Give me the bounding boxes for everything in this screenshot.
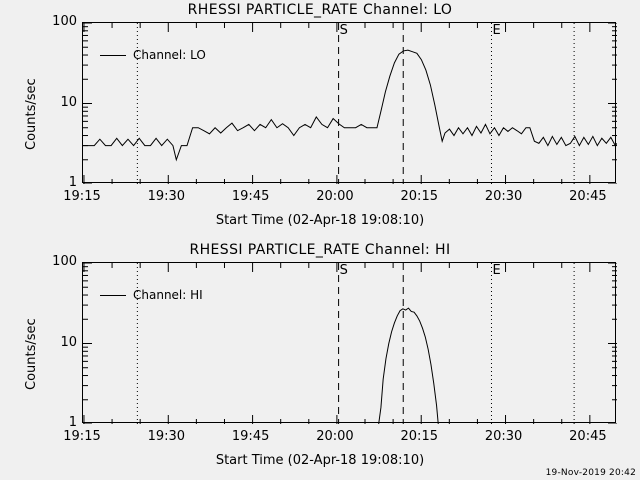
- legend-label-lo: Channel: LO: [133, 48, 206, 62]
- y-tick-label: 1: [37, 415, 77, 430]
- chart-title-lo: RHESSI PARTICLE_RATE Channel: LO: [0, 2, 640, 18]
- x-tick-label: 20:15: [401, 429, 438, 444]
- x-tick-label: 20:30: [485, 429, 522, 444]
- legend-line-swatch-lo: [100, 55, 126, 56]
- marker-label-e: E: [492, 23, 500, 38]
- y-tick-label: 10: [37, 335, 77, 350]
- x-tick-label: 19:15: [63, 429, 100, 444]
- chart-panel-hi: RHESSI PARTICLE_RATE Channel: HI Counts/…: [0, 240, 640, 480]
- x-tick-label: 19:45: [232, 189, 269, 204]
- chart-panel-lo: RHESSI PARTICLE_RATE Channel: LO Counts/…: [0, 0, 640, 240]
- x-tick-label: 20:45: [569, 189, 606, 204]
- x-tick-label: 20:00: [316, 429, 353, 444]
- x-tick-label: 19:30: [148, 429, 185, 444]
- marker-label-s: S: [340, 263, 348, 278]
- x-tick-label: 20:30: [485, 189, 522, 204]
- chart-title-hi: RHESSI PARTICLE_RATE Channel: HI: [0, 242, 640, 258]
- plot-area-hi: [82, 262, 616, 423]
- x-tick-label: 20:00: [316, 189, 353, 204]
- marker-label-s: S: [340, 23, 348, 38]
- marker-label-e: E: [492, 263, 500, 278]
- y-tick-label: 100: [37, 254, 77, 269]
- x-tick-label: 19:30: [148, 189, 185, 204]
- x-tick-label: 20:45: [569, 429, 606, 444]
- legend-label-hi: Channel: HI: [133, 288, 203, 302]
- x-axis-label-hi: Start Time (02-Apr-18 19:08:10): [0, 453, 640, 468]
- y-tick-label: 1: [37, 175, 77, 190]
- x-tick-label: 19:15: [63, 189, 100, 204]
- y-tick-label: 100: [37, 14, 77, 29]
- x-axis-label-lo: Start Time (02-Apr-18 19:08:10): [0, 213, 640, 228]
- legend-hi: Channel: HI: [100, 288, 203, 302]
- legend-lo: Channel: LO: [100, 48, 206, 62]
- y-axis-label-hi: Counts/sec: [24, 318, 39, 390]
- legend-line-swatch-hi: [100, 295, 126, 296]
- y-tick-label: 10: [37, 95, 77, 110]
- render-timestamp: 19-Nov-2019 20:42: [546, 468, 636, 478]
- plot-area-lo: [82, 22, 616, 183]
- x-tick-label: 19:45: [232, 429, 269, 444]
- y-axis-label-lo: Counts/sec: [24, 78, 39, 150]
- x-tick-label: 20:15: [401, 189, 438, 204]
